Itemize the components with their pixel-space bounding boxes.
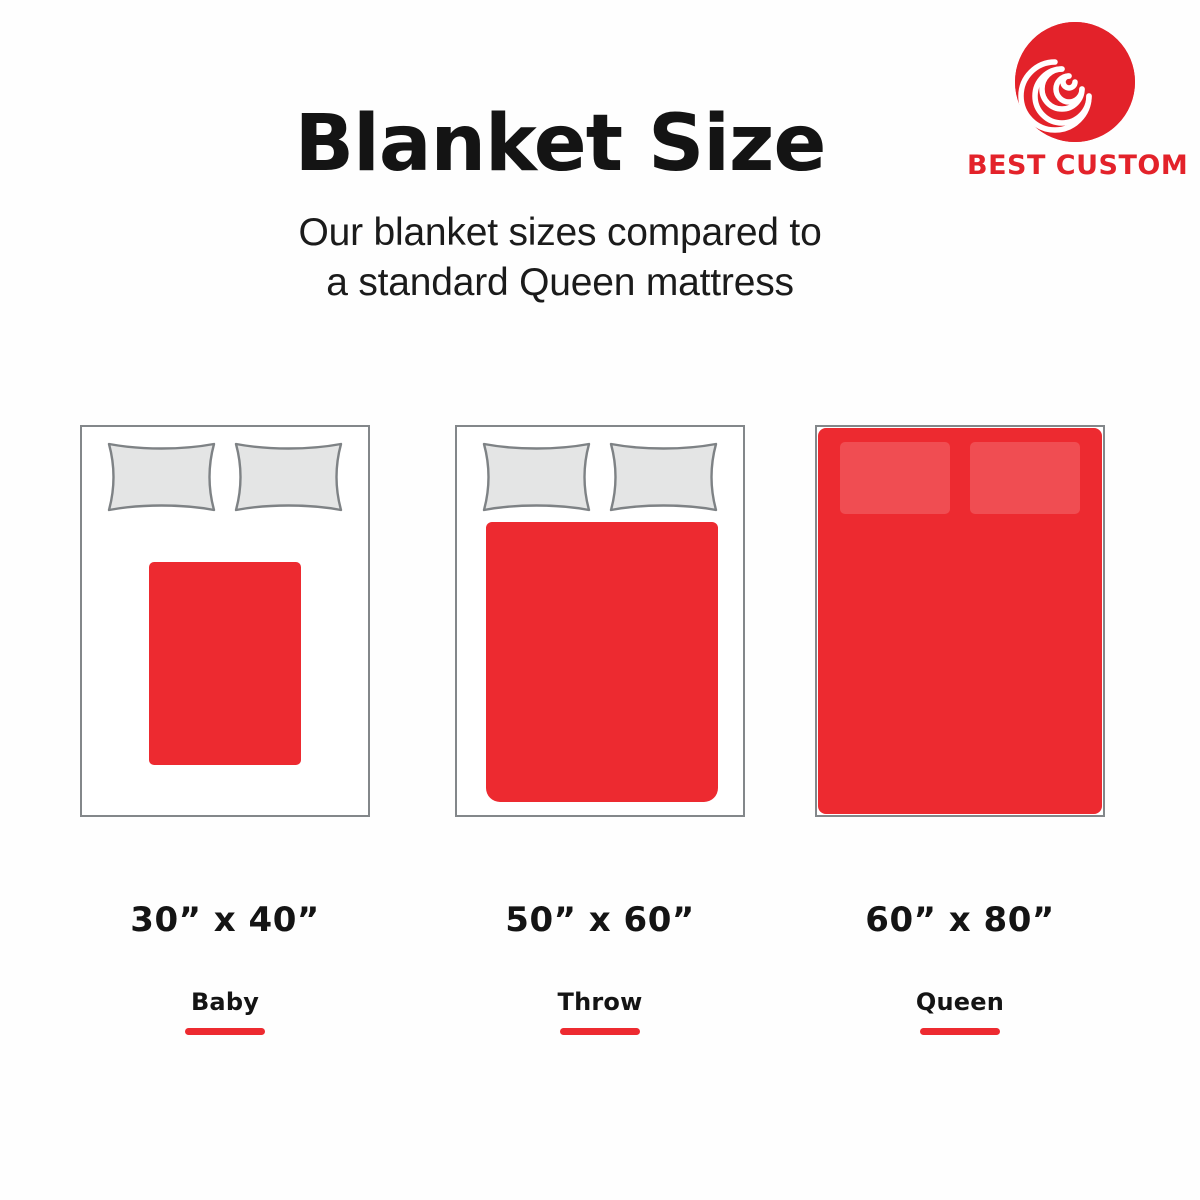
size-label-baby: 30” x 40” Baby	[80, 900, 370, 1035]
bed-diagram-throw	[455, 425, 745, 817]
size-dimension: 30” x 40”	[80, 900, 370, 940]
pillow-icon	[607, 440, 720, 514]
bed-diagram-queen	[815, 425, 1105, 817]
blanket-shape-throw	[486, 522, 718, 802]
heading-block: Blanket Size Our blanket sizes compared …	[0, 104, 1200, 308]
size-name: Throw	[455, 988, 745, 1016]
pillow-icon	[105, 440, 218, 514]
pillow-icon	[232, 440, 345, 514]
size-name: Baby	[80, 988, 370, 1016]
subtitle-line-2: a standard Queen mattress	[0, 258, 1120, 308]
size-label-queen: 60” x 80” Queen	[815, 900, 1105, 1035]
size-label-row: 30” x 40” Baby 50” x 60” Throw 60” x 80”…	[0, 900, 1200, 1040]
pillow-icon	[970, 442, 1080, 514]
underline-accent-bar	[920, 1028, 1000, 1035]
subtitle-line-1: Our blanket sizes compared to	[0, 208, 1120, 258]
size-label-throw: 50” x 60” Throw	[455, 900, 745, 1035]
size-name: Queen	[815, 988, 1105, 1016]
bed-diagram-row	[0, 425, 1200, 817]
page-subtitle: Our blanket sizes compared to a standard…	[0, 208, 1120, 308]
blanket-shape-queen	[818, 428, 1102, 814]
underline-accent-bar	[560, 1028, 640, 1035]
blanket-shape-baby	[149, 562, 301, 765]
bed-diagram-baby	[80, 425, 370, 817]
pillow-icon	[480, 440, 593, 514]
size-dimension: 60” x 80”	[815, 900, 1105, 940]
size-dimension: 50” x 60”	[455, 900, 745, 940]
underline-accent-bar	[185, 1028, 265, 1035]
page-title: Blanket Size	[0, 104, 1120, 186]
pillow-icon	[840, 442, 950, 514]
